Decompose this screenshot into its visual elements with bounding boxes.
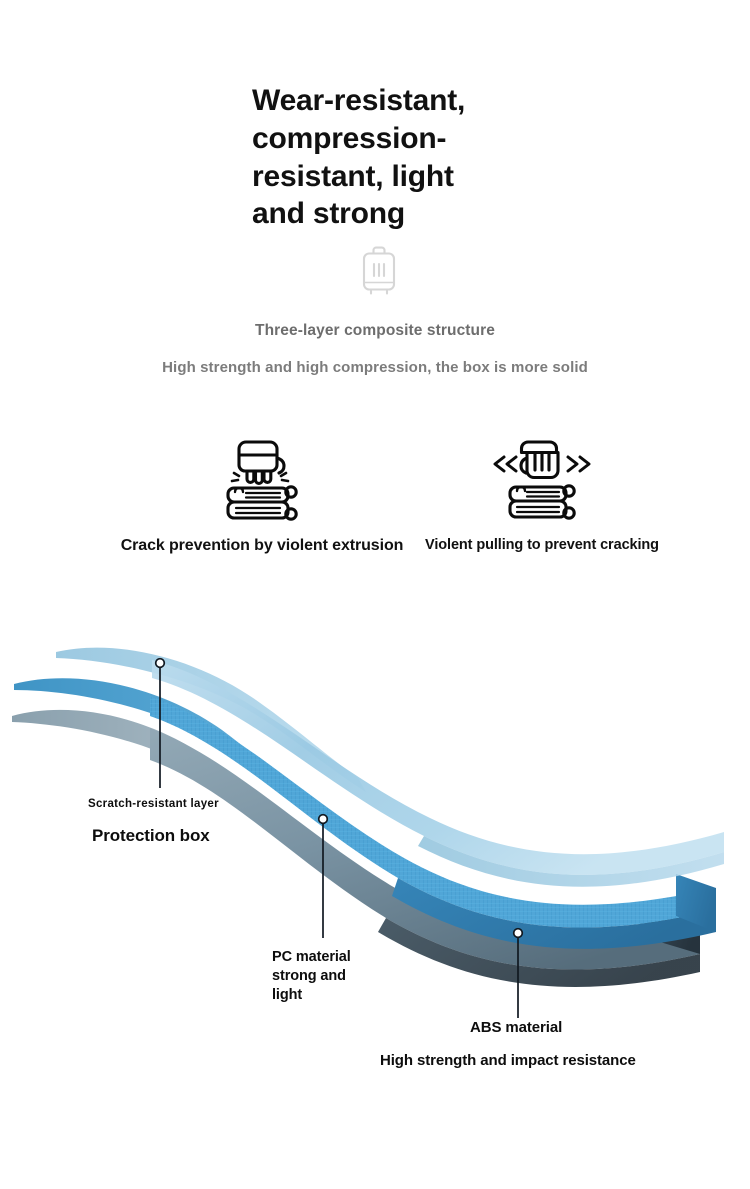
callout-protection-box: Protection box xyxy=(92,826,210,846)
feature-violent-pulling: Violent pulling to prevent cracking xyxy=(392,430,692,555)
callout-pc-line-1: PC material xyxy=(272,948,351,967)
hero-title-line-4: and strong xyxy=(252,195,552,233)
hero-title-line-3: resistant, light xyxy=(252,158,552,196)
callout-pc-line-3: light xyxy=(272,986,351,1005)
callout-scratch-resistant-layer: Scratch-resistant layer xyxy=(88,798,219,810)
callout-marker-middle xyxy=(319,815,328,824)
feature-label: Violent pulling to prevent cracking xyxy=(392,536,692,555)
subtitle-secondary: High strength and high compression, the … xyxy=(0,359,750,376)
callout-abs-description: High strength and impact resistance xyxy=(380,1052,636,1069)
callout-marker-bottom xyxy=(514,929,523,938)
callout-pc-line-2: strong and xyxy=(272,967,351,986)
callout-abs-material: ABS material xyxy=(470,1019,562,1036)
feature-label: Crack prevention by violent extrusion xyxy=(112,536,412,557)
callout-pc-material: PC material strong and light xyxy=(272,948,351,1005)
hero-title: Wear-resistant, compression- resistant, … xyxy=(252,82,552,233)
feature-crack-prevention: Crack prevention by violent extrusion xyxy=(112,430,412,557)
subtitle-primary: Three-layer composite structure xyxy=(0,322,750,340)
callout-marker-top xyxy=(156,659,165,668)
suitcase-icon xyxy=(355,243,403,301)
infographic-page: Wear-resistant, compression- resistant, … xyxy=(0,0,750,1189)
fist-pulling-suitcase-icon xyxy=(392,430,692,528)
hero-title-line-1: Wear-resistant, xyxy=(252,82,552,120)
hero-title-line-2: compression- xyxy=(252,120,552,158)
fist-pressing-suitcase-icon xyxy=(112,430,412,528)
